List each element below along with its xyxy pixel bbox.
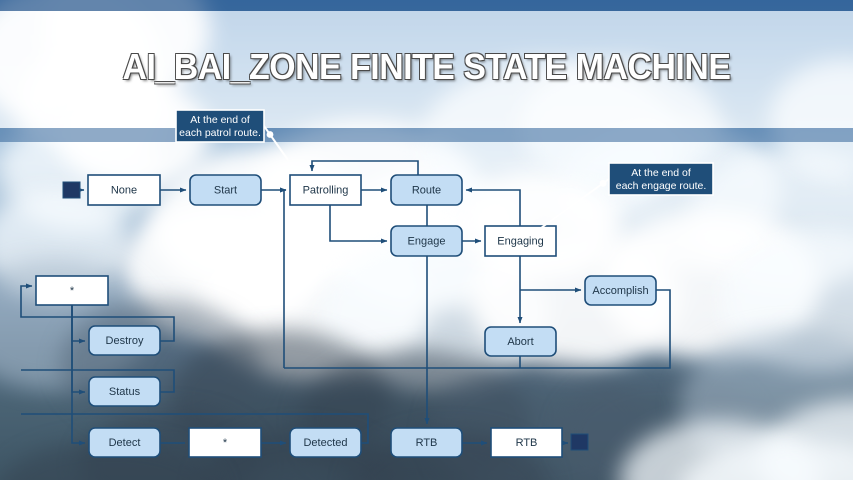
presentation-slide: AI_BAI_ZONE FINITE STATE MACHINE NoneSta… (0, 0, 853, 480)
state-node-engage[interactable]: Engage (391, 226, 462, 256)
callout-patrol: At the end ofeach patrol route. (176, 110, 288, 160)
state-node-shape (485, 327, 556, 356)
state-node-none[interactable]: None (88, 175, 160, 205)
state-node-shape (290, 428, 361, 457)
callout-leader-dot (267, 131, 274, 138)
state-machine-diagram: NoneStartPatrollingRouteEngageEngagingAc… (0, 0, 853, 480)
state-node-route[interactable]: Route (391, 175, 462, 205)
state-node-accomplish[interactable]: Accomplish (585, 276, 656, 305)
state-node-shape (36, 276, 108, 305)
state-node-shape (391, 226, 462, 256)
state-node-shape (391, 428, 462, 457)
state-node-rtb-left[interactable]: RTB (391, 428, 462, 457)
state-node-detect[interactable]: Detect (89, 428, 160, 457)
state-node-start[interactable]: Start (190, 175, 261, 205)
connector-e-star-destroy (72, 305, 85, 341)
connector-e-patrolling-engage (330, 205, 387, 241)
state-node-shape (491, 428, 562, 457)
terminal-start-marker (63, 182, 80, 198)
state-node-rtb-right[interactable]: RTB (491, 428, 562, 457)
callout-layer: At the end ofeach patrol route.At the en… (176, 110, 713, 233)
callout-leader-line (264, 126, 288, 160)
callout-leader-dot (600, 180, 607, 187)
callout-leader-line (534, 179, 609, 233)
state-node-star-bottom[interactable]: * (189, 428, 261, 457)
state-node-shape (290, 175, 361, 205)
state-node-shape (89, 326, 160, 355)
state-node-star-top[interactable]: * (36, 276, 108, 305)
state-node-status[interactable]: Status (89, 377, 160, 406)
terminal-layer (63, 182, 588, 450)
state-node-detected[interactable]: Detected (290, 428, 361, 457)
connector-e-return-patrolling (284, 190, 286, 368)
state-node-shape (189, 428, 261, 457)
state-node-shape (391, 175, 462, 205)
state-node-shape (190, 175, 261, 205)
state-node-patrolling[interactable]: Patrolling (290, 175, 361, 205)
terminal-end-marker (571, 434, 588, 450)
connector-e-star-status (72, 305, 85, 392)
connector-e-star-detect (72, 305, 85, 443)
state-node-abort[interactable]: Abort (485, 327, 556, 356)
connector-e-route-patrolling (312, 161, 418, 175)
callout-box (609, 163, 713, 195)
state-node-shape (585, 276, 656, 305)
state-node-shape (485, 226, 556, 256)
state-node-shape (89, 377, 160, 406)
callout-engage: At the end ofeach engage route. (534, 163, 713, 233)
connector-e-engaging-route (466, 190, 520, 226)
state-node-shape (88, 175, 160, 205)
state-node-shape (89, 428, 160, 457)
callout-box (176, 110, 264, 142)
state-node-destroy[interactable]: Destroy (89, 326, 160, 355)
state-node-engaging[interactable]: Engaging (485, 226, 556, 256)
